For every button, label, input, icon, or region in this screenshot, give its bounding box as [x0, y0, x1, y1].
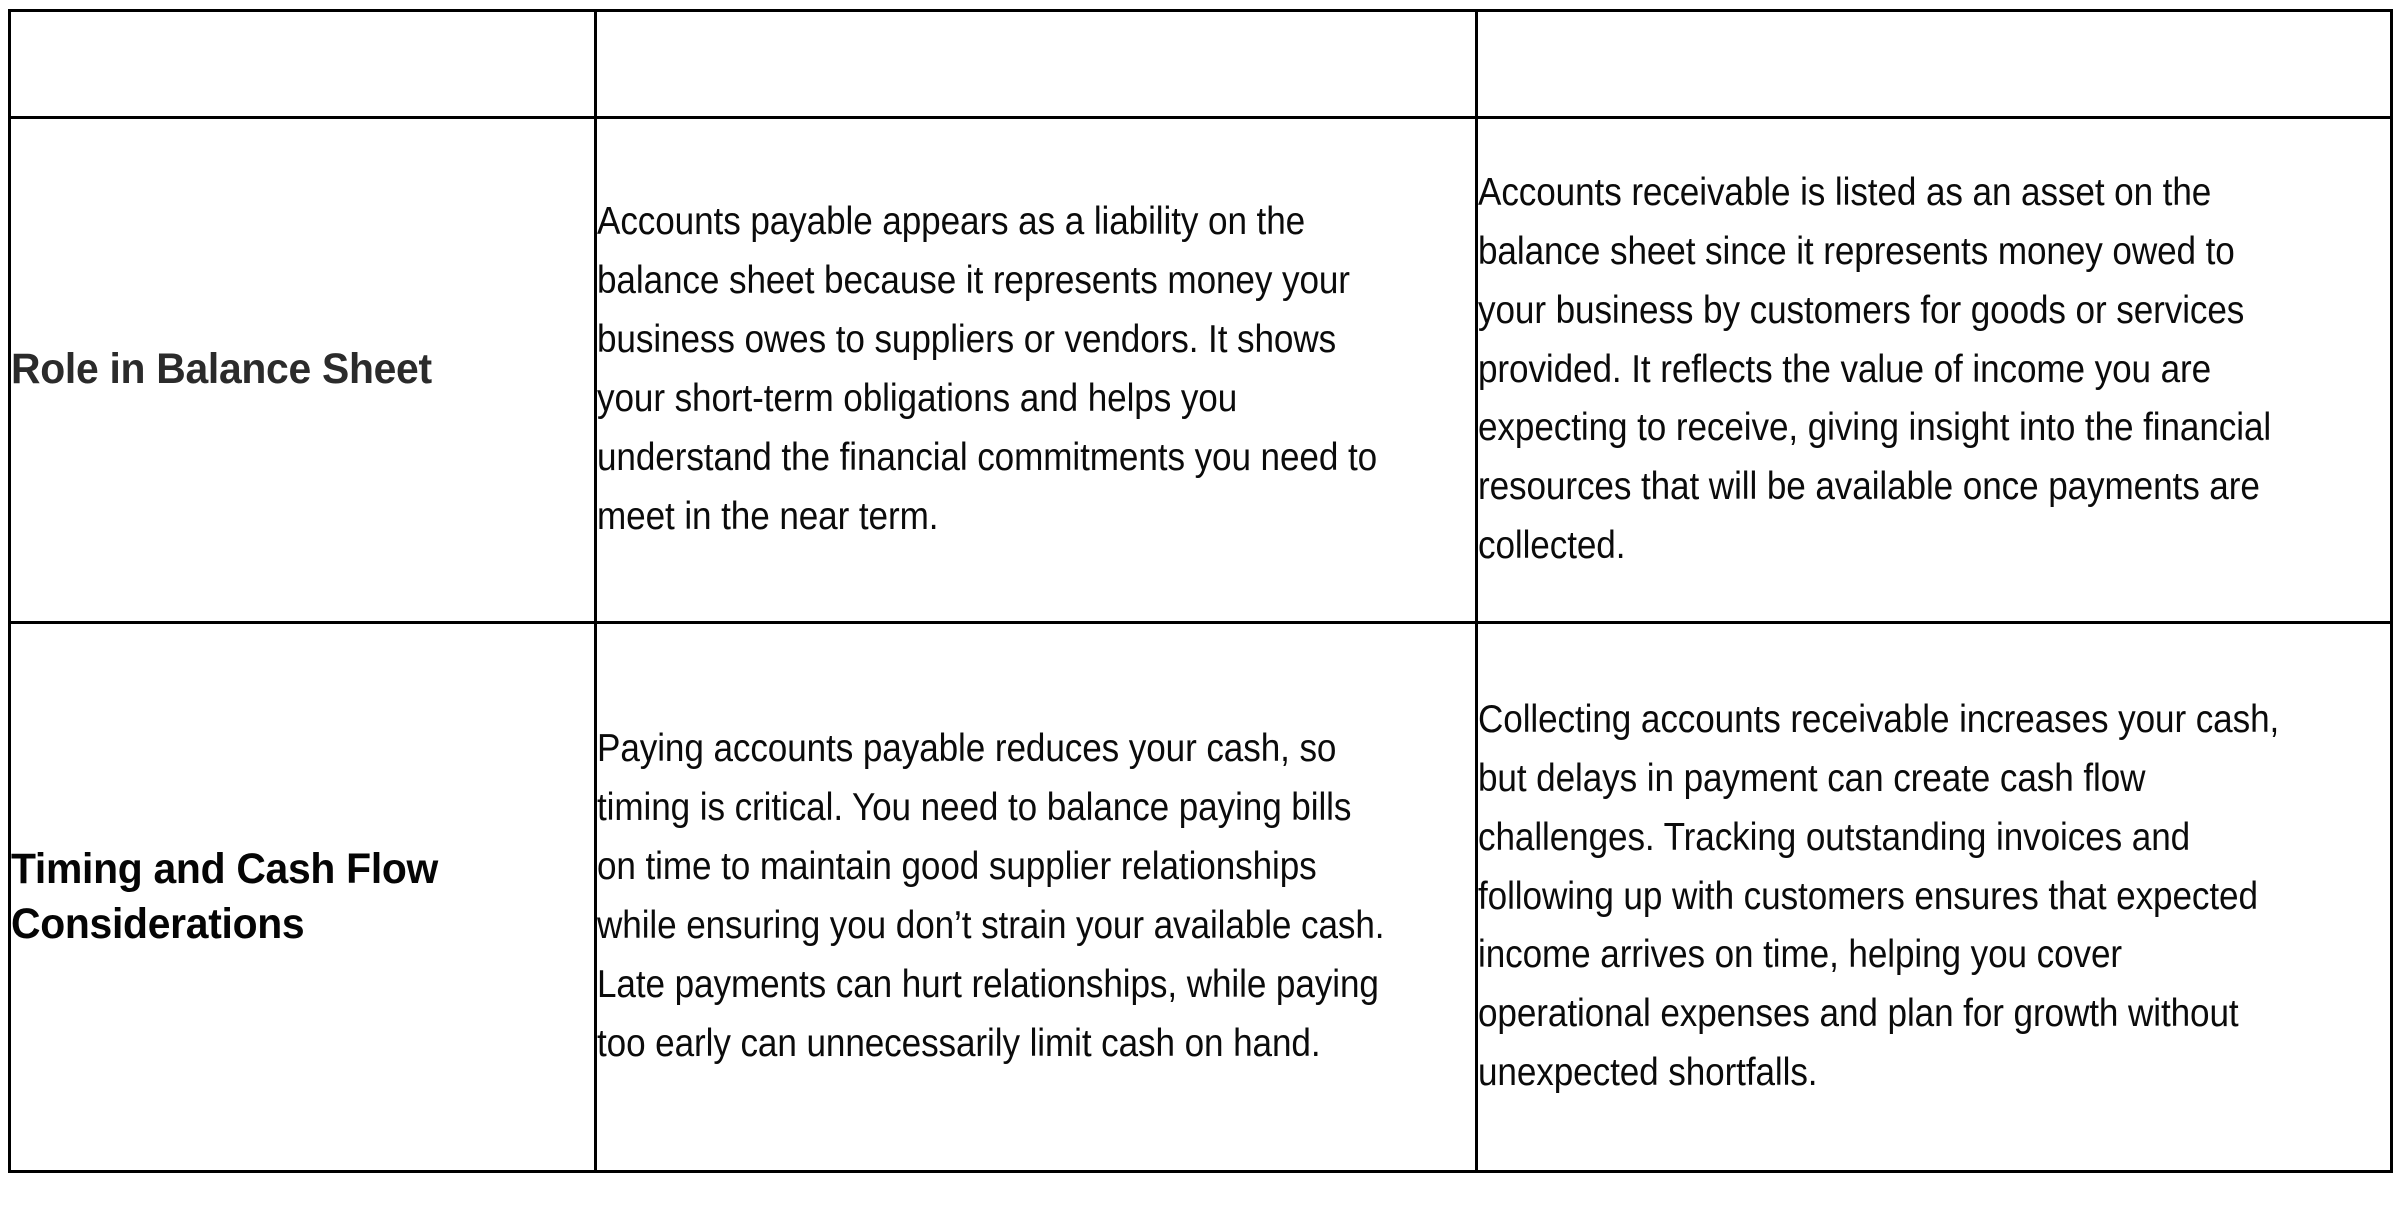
cell-text: Accounts payable appears as a liability …: [597, 193, 1387, 546]
table-head: Accounts Payable (AP) Accounts Receivabl…: [10, 11, 2392, 118]
table-body: Role in Balance Sheet Accounts payable a…: [10, 118, 2392, 1172]
table-row: Role in Balance Sheet Accounts payable a…: [10, 118, 2392, 623]
table-row: Timing and Cash Flow Considerations Payi…: [10, 623, 2392, 1172]
cell-role-in-balance-sheet-ap: Accounts payable appears as a liability …: [596, 118, 1477, 623]
column-header-accounts-receivable: Accounts Receivable (AR): [1477, 11, 2392, 118]
row-label-text: Role in Balance Sheet: [11, 342, 565, 397]
cell-text: Paying accounts payable reduces your cas…: [597, 720, 1387, 1073]
column-header-accounts-payable: Accounts Payable (AP): [596, 11, 1477, 118]
comparison-table-page: Accounts Payable (AP) Accounts Receivabl…: [0, 0, 2404, 1214]
table-corner-cell: [10, 11, 596, 118]
table-header-row: Accounts Payable (AP) Accounts Receivabl…: [10, 11, 2392, 118]
row-label-timing-and-cash-flow-considerations: Timing and Cash Flow Considerations: [10, 623, 596, 1172]
cell-text: Accounts receivable is listed as an asse…: [1478, 164, 2299, 576]
ap-vs-ar-comparison-table: Accounts Payable (AP) Accounts Receivabl…: [8, 9, 2393, 1173]
cell-timing-and-cash-flow-ar: Collecting accounts receivable increases…: [1477, 623, 2392, 1172]
column-header-accounts-payable-label: Accounts Payable (AP): [613, 41, 1408, 87]
row-label-text: Timing and Cash Flow Considerations: [11, 842, 565, 952]
cell-timing-and-cash-flow-ap: Paying accounts payable reduces your cas…: [596, 623, 1477, 1172]
cell-text: Collecting accounts receivable increases…: [1478, 691, 2299, 1103]
cell-role-in-balance-sheet-ar: Accounts receivable is listed as an asse…: [1477, 118, 2392, 623]
row-label-role-in-balance-sheet: Role in Balance Sheet: [10, 118, 596, 623]
column-header-accounts-receivable-label: Accounts Receivable (AR): [1494, 41, 2321, 87]
